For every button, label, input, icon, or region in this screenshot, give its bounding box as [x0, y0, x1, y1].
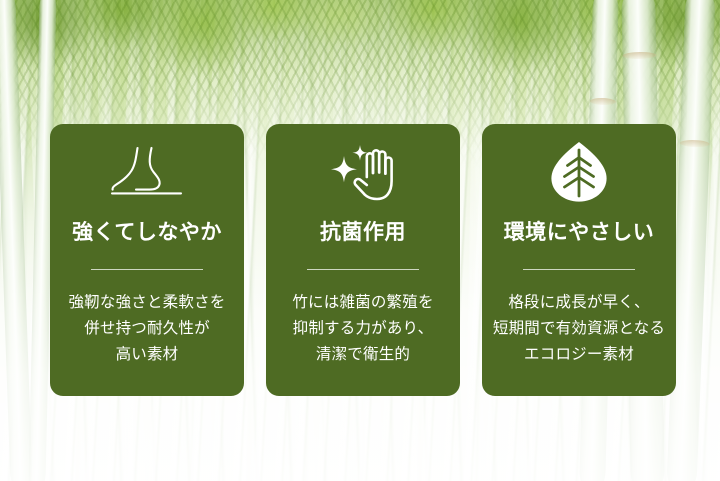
card-body-line: エコロジー素材: [493, 342, 665, 368]
feature-card-eco[interactable]: 環境にやさしい 格段に成長が早く、 短期間で有効資源となる エコロジー素材: [482, 124, 676, 396]
card-body-line: 短期間で有効資源となる: [493, 316, 665, 342]
card-divider: [91, 269, 203, 270]
card-body-line: 抑制する力があり、: [292, 316, 433, 342]
card-body: 竹には雑菌の繁殖を 抑制する力があり、 清潔で衛生的: [286, 290, 439, 368]
card-title: 環境にやさしい: [504, 222, 655, 243]
card-title: 強くてしなやか: [72, 222, 222, 243]
leaf-icon: [550, 124, 608, 220]
feature-card-list: 強くてしなやか 強靭な強さと柔軟さを 併せ持つ耐久性が 高い素材: [50, 124, 676, 396]
card-body-line: 併せ持つ耐久性が: [68, 316, 225, 342]
card-divider: [523, 269, 635, 270]
feature-card-antibacterial[interactable]: 抗菌作用 竹には雑菌の繁殖を 抑制する力があり、 清潔で衛生的: [266, 124, 460, 396]
card-body-line: 格段に成長が早く、: [493, 290, 665, 316]
card-body-line: 高い素材: [68, 342, 225, 368]
feature-banner: 強くてしなやか 強靭な強さと柔軟さを 併せ持つ耐久性が 高い素材: [0, 0, 720, 481]
card-body-line: 竹には雑菌の繁殖を: [292, 290, 433, 316]
feature-card-strength[interactable]: 強くてしなやか 強靭な強さと柔軟さを 併せ持つ耐久性が 高い素材: [50, 124, 244, 396]
foot-icon: [110, 124, 184, 220]
card-divider: [307, 269, 419, 270]
card-body-line: 清潔で衛生的: [292, 342, 433, 368]
card-title: 抗菌作用: [320, 222, 406, 243]
card-body-line: 強靭な強さと柔軟さを: [68, 290, 225, 316]
card-body: 強靭な強さと柔軟さを 併せ持つ耐久性が 高い素材: [62, 290, 231, 368]
sparkle-hand-icon: [325, 124, 401, 220]
card-body: 格段に成長が早く、 短期間で有効資源となる エコロジー素材: [487, 290, 671, 368]
